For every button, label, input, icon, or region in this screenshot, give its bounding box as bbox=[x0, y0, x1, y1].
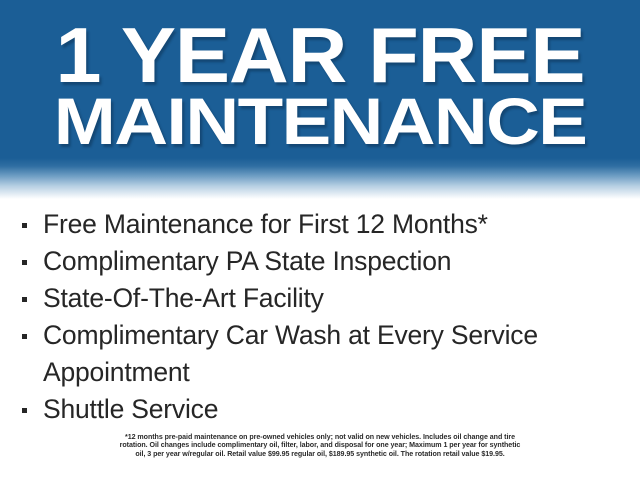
disclaimer: *12 months pre-paid maintenance on pre-o… bbox=[0, 433, 640, 458]
disclaimer-line-3: oil, 3 per year w/regular oil. Retail va… bbox=[0, 450, 640, 458]
benefit-label: State-Of-The-Art Facility bbox=[43, 280, 622, 317]
benefit-label: Shuttle Service bbox=[43, 391, 622, 428]
list-item: Complimentary PA State Inspection bbox=[22, 243, 622, 280]
bullet-square-icon bbox=[22, 223, 27, 228]
benefits-list: Free Maintenance for First 12 Months* Co… bbox=[22, 206, 622, 428]
disclaimer-line-2: rotation. Oil changes include compliment… bbox=[0, 441, 640, 449]
bullet-square-icon bbox=[22, 260, 27, 265]
list-item: State-Of-The-Art Facility bbox=[22, 280, 622, 317]
bullet-square-icon bbox=[22, 297, 27, 302]
headline-line-2: MAINTENANCE bbox=[0, 88, 640, 154]
benefit-label: Complimentary Car Wash at Every Service … bbox=[43, 317, 622, 391]
list-item: Complimentary Car Wash at Every Service … bbox=[22, 317, 622, 391]
bullet-square-icon bbox=[22, 334, 27, 339]
benefit-label: Free Maintenance for First 12 Months* bbox=[43, 206, 622, 243]
headline-line-1: 1 YEAR FREE bbox=[0, 16, 640, 94]
list-item: Free Maintenance for First 12 Months* bbox=[22, 206, 622, 243]
list-item: Shuttle Service bbox=[22, 391, 622, 428]
promo-banner: 1 YEAR FREE MAINTENANCE bbox=[0, 0, 640, 200]
bullet-square-icon bbox=[22, 408, 27, 413]
disclaimer-line-1: *12 months pre-paid maintenance on pre-o… bbox=[0, 433, 640, 441]
benefit-label: Complimentary PA State Inspection bbox=[43, 243, 622, 280]
